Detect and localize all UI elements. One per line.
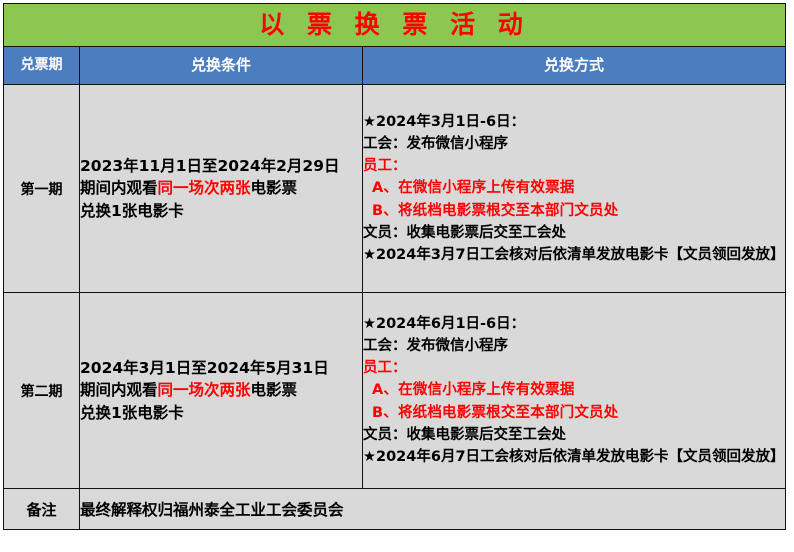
condition-line-2-pre: 期间内观看: [80, 381, 158, 399]
method-cell: ★2024年6月1日-6日： 工会：发布微信小程序 员工： A、在微信小程序上传…: [363, 293, 786, 489]
condition-line-2: 期间内观看同一场次两张电影票: [80, 177, 362, 199]
condition-line-2: 期间内观看同一场次两张电影票: [80, 379, 362, 401]
method-line-3: 员工：: [363, 357, 785, 379]
period-cell: 第二期: [4, 293, 80, 489]
method-line-1: ★2024年6月1日-6日：: [363, 313, 785, 335]
note-label: 备注: [4, 489, 80, 530]
method-line-4: A、在微信小程序上传有效票据: [363, 379, 785, 401]
title-row: 以 票 换 票 活 动: [4, 4, 786, 47]
method-line-5: B、将纸档电影票根交至本部门文员处: [363, 402, 785, 424]
method-line-6: 文员：收集电影票后交至工会处: [363, 424, 785, 446]
method-line-6: 文员：收集电影票后交至工会处: [363, 222, 785, 244]
method-line-4: A、在微信小程序上传有效票据: [363, 177, 785, 199]
method-line-3: 员工：: [363, 155, 785, 177]
condition-line-3: 兑换1张电影卡: [80, 402, 362, 424]
condition-line-1: 2024年3月1日至2024年5月31日: [80, 357, 362, 379]
note-text: 最终解释权归福州泰全工业工会委员会: [80, 489, 786, 530]
condition-line-3: 兑换1张电影卡: [80, 200, 362, 222]
method-line-5: B、将纸档电影票根交至本部门文员处: [363, 200, 785, 222]
condition-cell: 2023年11月1日至2024年2月29日 期间内观看同一场次两张电影票 兑换1…: [80, 85, 363, 293]
condition-highlight: 同一场次两张: [158, 179, 251, 197]
method-line-7: ★2024年6月7日工会核对后依清单发放电影卡【文员领回发放】: [363, 446, 785, 468]
page-title: 以 票 换 票 活 动: [259, 10, 530, 39]
condition-line-2-pre: 期间内观看: [80, 179, 158, 197]
table-row: 第二期 2024年3月1日至2024年5月31日 期间内观看同一场次两张电影票 …: [4, 293, 786, 489]
condition-cell: 2024年3月1日至2024年5月31日 期间内观看同一场次两张电影票 兑换1张…: [80, 293, 363, 489]
banner-title-cell: 以 票 换 票 活 动: [4, 4, 786, 47]
condition-line-2-post: 电影票: [251, 381, 298, 399]
spreadsheet-canvas: 以 票 换 票 活 动 兑票期 兑换条件 兑换方式 第一期 2023年11月1日…: [0, 3, 794, 552]
method-line-7: ★2024年3月7日工会核对后依清单发放电影卡【文员领回发放】: [363, 244, 785, 266]
period-cell: 第一期: [4, 85, 80, 293]
condition-line-1: 2023年11月1日至2024年2月29日: [80, 155, 362, 177]
column-header-method: 兑换方式: [363, 47, 786, 85]
method-line-1: ★2024年3月1日-6日：: [363, 111, 785, 133]
table-header-row: 兑票期 兑换条件 兑换方式: [4, 47, 786, 85]
column-header-condition: 兑换条件: [80, 47, 363, 85]
method-cell: ★2024年3月1日-6日： 工会：发布微信小程序 员工： A、在微信小程序上传…: [363, 85, 786, 293]
column-header-period: 兑票期: [4, 47, 80, 85]
table-row: 第一期 2023年11月1日至2024年2月29日 期间内观看同一场次两张电影票…: [4, 85, 786, 293]
note-row: 备注 最终解释权归福州泰全工业工会委员会: [4, 489, 786, 530]
condition-highlight: 同一场次两张: [158, 381, 251, 399]
method-line-2: 工会：发布微信小程序: [363, 133, 785, 155]
condition-line-2-post: 电影票: [251, 179, 298, 197]
promotion-table: 以 票 换 票 活 动 兑票期 兑换条件 兑换方式 第一期 2023年11月1日…: [3, 3, 786, 530]
method-line-2: 工会：发布微信小程序: [363, 335, 785, 357]
